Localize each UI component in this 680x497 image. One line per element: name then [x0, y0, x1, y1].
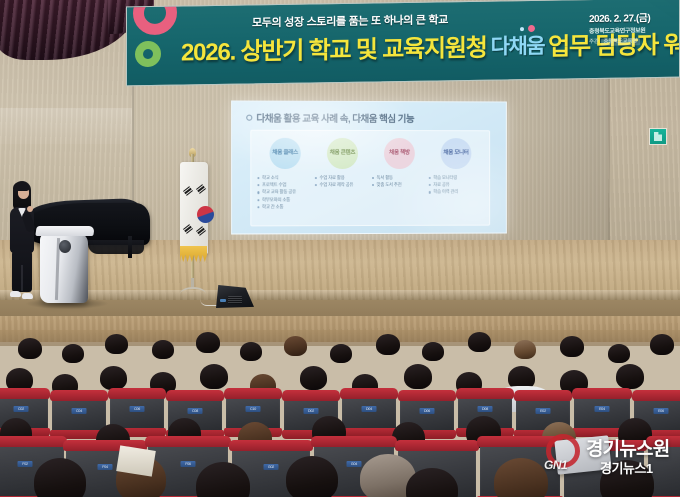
- slide-circle-label: 채움 책방: [384, 138, 415, 169]
- audience-head: [100, 366, 127, 390]
- handout-paper: [116, 445, 156, 476]
- audience-head: [616, 364, 644, 389]
- slide-item: 프로젝트 수업: [257, 182, 313, 188]
- banner-info-block: 2026. 2. 27.(금) 충청북도교육연구정보원 주관 충청북도교육청: [589, 13, 675, 46]
- audience-head: [284, 336, 307, 356]
- slide-circle-label: 채움 모니터: [441, 138, 472, 169]
- korean-flag-cloth: [180, 162, 208, 254]
- seat-label: D08: [478, 406, 493, 412]
- korean-flag-stand: [172, 148, 214, 296]
- slide-item: 학습 이력 관리: [428, 189, 483, 195]
- seat-label: C02: [14, 406, 29, 412]
- slide-column-items: 학교 소식 프로젝트 수업 학교 교육 활동 공유 학부모와의 소통 학교 간 …: [257, 175, 313, 210]
- seat[interactable]: C04: [52, 396, 106, 434]
- slide-title-row: 다채움 활용 교육 사례 속, 다채움 핵심 기능: [246, 111, 414, 125]
- banner-ring-pink-icon: [133, 0, 177, 35]
- trigram-gon-icon: [196, 226, 206, 236]
- trigram-gam-icon: [196, 184, 206, 194]
- slide-item: 학부모와의 소통: [257, 197, 313, 203]
- seat-label: D04: [362, 406, 377, 412]
- audience-head: [62, 344, 84, 363]
- laptop-device: [554, 435, 611, 474]
- slide-item: 수업 자료 활용: [314, 175, 370, 181]
- slide-item: 학교 교육 활동 공유: [257, 190, 313, 196]
- slide-content-card: 채움 클래스 학교 소식 프로젝트 수업 학교 교육 활동 공유 학부모와의 소…: [250, 130, 490, 227]
- flag-fringe: [180, 246, 207, 262]
- piano-skirt: [88, 240, 144, 254]
- seat-label: C06: [130, 406, 145, 412]
- taeguk-symbol-icon: [197, 206, 214, 223]
- audience-head: [152, 340, 174, 359]
- flag-base: [180, 278, 206, 294]
- slide-column-items: 수업 자료 활용 수업 자료 제작 공유: [314, 175, 370, 188]
- seat[interactable]: D04: [342, 394, 396, 432]
- seat-label: E04: [595, 406, 610, 412]
- slide-column: 채움 콘텐츠 수업 자료 활용 수업 자료 제작 공유: [314, 138, 370, 225]
- audience-head: [404, 364, 432, 389]
- seat-label: G02: [264, 464, 279, 470]
- audience-head: [240, 342, 262, 361]
- seat-label: D06: [420, 408, 435, 414]
- banner-venue: 충청북도교육연구정보원: [589, 27, 675, 36]
- presenter-hair-front: [13, 182, 29, 191]
- seat-label: C10: [246, 406, 261, 412]
- seat-label: F06: [181, 461, 196, 467]
- slide-item: 수업 자료 제작 공유: [314, 182, 370, 188]
- presenter: [6, 181, 40, 303]
- presenter-leg-gap: [21, 265, 23, 291]
- presenter-hand: [27, 206, 33, 212]
- logo-dot-pink-icon: [528, 24, 535, 31]
- audience-head: [105, 334, 128, 354]
- banner-host-label: 주관: [589, 39, 599, 46]
- slide-column: 채움 클래스 학교 소식 프로젝트 수업 학교 교육 활동 공유 학부모와의 소…: [257, 138, 313, 226]
- slide-circle-label: 채움 클래스: [270, 138, 301, 169]
- audience-head: [286, 456, 338, 497]
- exit-running-man-glyph: [654, 132, 662, 141]
- slide-item: 학교 간 소통: [257, 204, 313, 210]
- projection-screen: 다채움 활용 교육 사례 속, 다채움 핵심 기능 채움 클래스 학교 소식 프…: [231, 100, 507, 234]
- banner-title-main: 2026. 상반기 학교 및 교육지원청: [181, 28, 487, 68]
- audience-head: [560, 336, 584, 357]
- seat-label: C08: [188, 408, 203, 414]
- event-banner: 모두의 성장 스토리를 품는 또 하나의 큰 학교 2026. 상반기 학교 및…: [126, 0, 680, 86]
- slide-circle-label: 채움 콘텐츠: [327, 138, 358, 169]
- seat-label: C04: [72, 408, 87, 414]
- slide-item: 독서 활동: [371, 175, 427, 181]
- seat-label: E02: [536, 408, 551, 414]
- banner-host: 주관 충청북도교육청: [589, 38, 675, 46]
- audience-head: [330, 344, 352, 363]
- speaker-badge-icon: [220, 299, 226, 302]
- emergency-exit-icon: [649, 128, 667, 145]
- slide-column: 채움 모니터 학습 모니터링 자료 공유 학습 이력 관리: [428, 138, 483, 225]
- slide-item: 학습 모니터링: [428, 175, 483, 181]
- trigram-ri-icon: [183, 224, 193, 234]
- flag-base-legs: [180, 287, 206, 294]
- trigram-geon-icon: [183, 186, 193, 196]
- slide-title: 다채움 활용 교육 사례 속, 다채움 핵심 기능: [256, 111, 414, 125]
- presenter-shoe: [10, 291, 21, 297]
- podium-top-surface: [35, 226, 94, 236]
- audience-head: [18, 338, 42, 359]
- audience-head: [650, 334, 674, 355]
- audience-head: [196, 332, 220, 353]
- audience-head: [608, 344, 630, 363]
- logo-dot-blue-icon: [520, 27, 524, 31]
- slide-item: 자료 공유: [428, 182, 483, 188]
- slide-item: 학교 소식: [257, 175, 313, 181]
- seat-label: E06: [654, 408, 669, 414]
- audience-head: [422, 342, 444, 361]
- speaker-grill: [228, 296, 242, 304]
- audience-head: [376, 334, 400, 355]
- audience-head: [200, 364, 228, 389]
- slide-column-items: 학습 모니터링 자료 공유 학습 이력 관리: [428, 175, 483, 195]
- banner-host-name: 충청북도교육청: [601, 38, 640, 45]
- audience-head: [468, 332, 491, 352]
- podium: [36, 226, 94, 306]
- banner-ring-green-icon: [135, 41, 161, 67]
- podium-emblem-icon: [59, 240, 71, 253]
- seat-label: F02: [18, 461, 33, 467]
- slide-column: 채움 책방 독서 활동 맞춤 도서 추천: [371, 138, 427, 225]
- photo-scene: 모두의 성장 스토리를 품는 또 하나의 큰 학교 2026. 상반기 학교 및…: [0, 0, 680, 497]
- seat-label: F04: [98, 464, 113, 470]
- seat-label: G04: [347, 461, 362, 467]
- audience-head: [300, 366, 327, 390]
- banner-date: 2026. 2. 27.(금): [589, 13, 675, 27]
- seat-label: D02: [304, 408, 319, 414]
- dachaeum-logo-text: 다채움: [491, 34, 544, 58]
- audience-head: [514, 340, 536, 359]
- slide-column-items: 독서 활동 맞춤 도서 추천: [371, 175, 427, 188]
- slide-item: 맞춤 도서 추천: [371, 182, 427, 188]
- slide-bullet-icon: [246, 115, 252, 121]
- dachaeum-logo: 다채움: [491, 29, 544, 60]
- speaker-cable: [200, 299, 218, 306]
- left-wall-band: [0, 108, 132, 144]
